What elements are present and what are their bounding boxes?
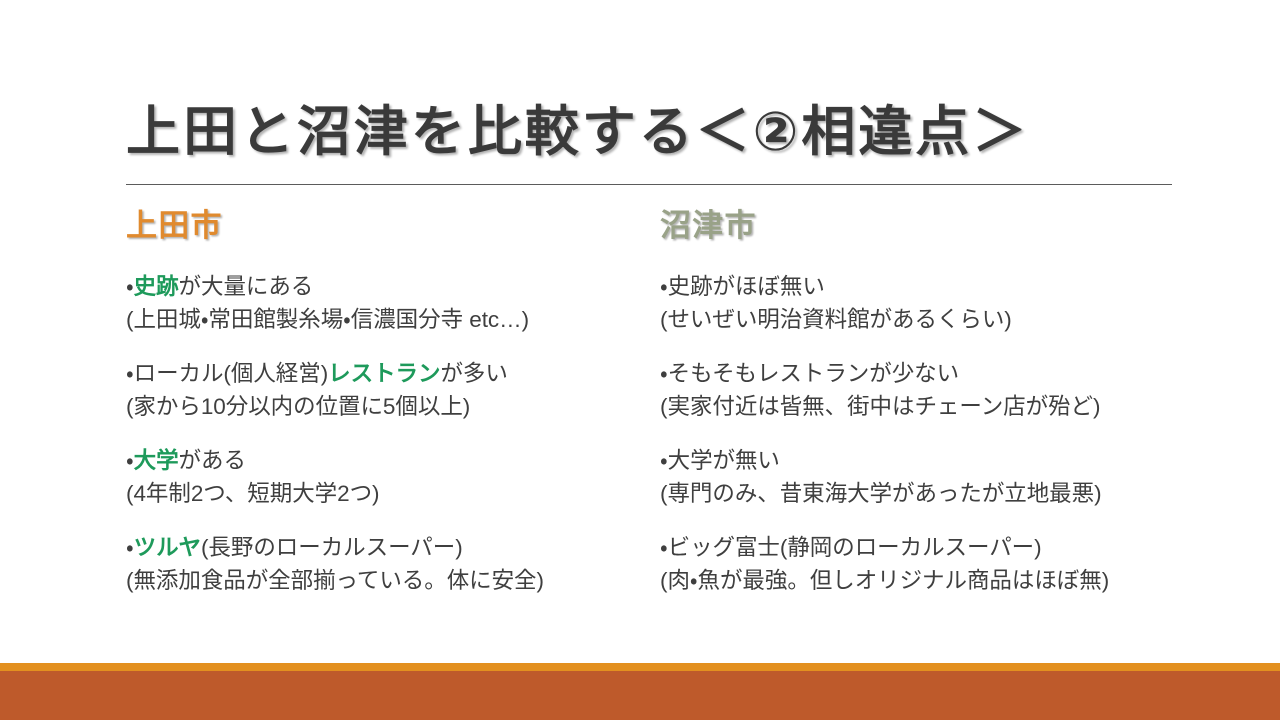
bullet-detail-line: (上田城・常田館製糸場・信濃国分寺 etc…) [126, 303, 646, 336]
list-item: ・史跡が大量にある (上田城・常田館製糸場・信濃国分寺 etc…) [126, 270, 646, 336]
bullet-main-line: ・ローカル(個人経営)レストランが多い [126, 357, 646, 390]
bullet-rest: 大学が無い [668, 448, 780, 473]
bullet-main-line: ・大学がある [126, 444, 646, 477]
list-item: ・史跡がほぼ無い (せいぜい明治資料館があるくらい) [660, 270, 1200, 336]
bullet-list-ueda: ・史跡が大量にある (上田城・常田館製糸場・信濃国分寺 etc…) ・ローカル(… [126, 270, 646, 597]
bullet-main-line: ・史跡がほぼ無い [660, 270, 1200, 303]
bullet-marker: ・ [660, 274, 668, 299]
list-item: ・ツルヤ(長野のローカルスーパー) (無添加食品が全部揃っている。体に安全) [126, 531, 646, 597]
bullet-detail-line: (肉・魚が最強。但しオリジナル商品はほぼ無) [660, 564, 1200, 597]
bullet-list-numazu: ・史跡がほぼ無い (せいぜい明治資料館があるくらい) ・そもそもレストランが少な… [660, 270, 1200, 597]
bullet-marker: ・ [660, 535, 668, 560]
footer-bar-terracotta [0, 671, 1280, 720]
bullet-rest: そもそもレストランが少ない [668, 361, 959, 386]
bullet-highlight: 大学 [134, 448, 179, 473]
column-ueda: 上田市 ・史跡が大量にある (上田城・常田館製糸場・信濃国分寺 etc…) ・ロ… [126, 206, 646, 246]
column-heading-ueda: 上田市 [126, 206, 646, 246]
bullet-detail-line: (せいぜい明治資料館があるくらい) [660, 303, 1200, 336]
page-title: 上田と沼津を比較する＜②相違点＞ [126, 96, 1176, 168]
bullet-rest: (長野のローカルスーパー) [201, 535, 463, 560]
bullet-highlight: ツルヤ [134, 535, 201, 560]
bullet-rest: ビッグ富士(静岡のローカルスーパー) [668, 535, 1042, 560]
bullet-main-line: ・ツルヤ(長野のローカルスーパー) [126, 531, 646, 564]
bullet-rest: が大量にある [179, 274, 314, 299]
bullet-main-line: ・そもそもレストランが少ない [660, 357, 1200, 390]
list-item: ・大学が無い (専門のみ、昔東海大学があったが立地最悪) [660, 444, 1200, 510]
list-item: ・大学がある (4年制2つ、短期大学2つ) [126, 444, 646, 510]
bullet-main-line: ・大学が無い [660, 444, 1200, 477]
bullet-marker: ・ [660, 448, 668, 473]
bullet-rest: がある [179, 448, 246, 473]
bullet-detail-line: (実家付近は皆無、街中はチェーン店が殆ど) [660, 390, 1200, 423]
bullet-detail-line: (家から10分以内の位置に5個以上) [126, 390, 646, 423]
bullet-marker: ・ [126, 448, 134, 473]
bullet-detail-line: (無添加食品が全部揃っている。体に安全) [126, 564, 646, 597]
bullet-rest: が多い [440, 361, 507, 386]
bullet-main-line: ・ビッグ富士(静岡のローカルスーパー) [660, 531, 1200, 564]
bullet-marker: ・ [126, 274, 134, 299]
bullet-marker: ・ [126, 535, 134, 560]
bullet-main-line: ・史跡が大量にある [126, 270, 646, 303]
list-item: ・ビッグ富士(静岡のローカルスーパー) (肉・魚が最強。但しオリジナル商品はほぼ… [660, 531, 1200, 597]
bullet-highlight: レストラン [328, 361, 440, 386]
slide-canvas: 上田と沼津を比較する＜②相違点＞ 上田市 ・史跡が大量にある (上田城・常田館製… [0, 0, 1280, 720]
bullet-marker: ・ [126, 361, 134, 386]
bullet-pre: ローカル(個人経営) [134, 361, 329, 386]
bullet-highlight: 史跡 [134, 274, 179, 299]
bullet-rest: 史跡がほぼ無い [668, 274, 825, 299]
title-divider [126, 184, 1172, 185]
list-item: ・ローカル(個人経営)レストランが多い (家から10分以内の位置に5個以上) [126, 357, 646, 423]
footer-bar-amber [0, 663, 1280, 671]
bullet-detail-line: (専門のみ、昔東海大学があったが立地最悪) [660, 477, 1200, 510]
bullet-marker: ・ [660, 361, 668, 386]
bullet-detail-line: (4年制2つ、短期大学2つ) [126, 477, 646, 510]
column-numazu: 沼津市 ・史跡がほぼ無い (せいぜい明治資料館があるくらい) ・そもそもレストラ… [660, 206, 1200, 246]
column-heading-numazu: 沼津市 [660, 206, 1200, 246]
list-item: ・そもそもレストランが少ない (実家付近は皆無、街中はチェーン店が殆ど) [660, 357, 1200, 423]
